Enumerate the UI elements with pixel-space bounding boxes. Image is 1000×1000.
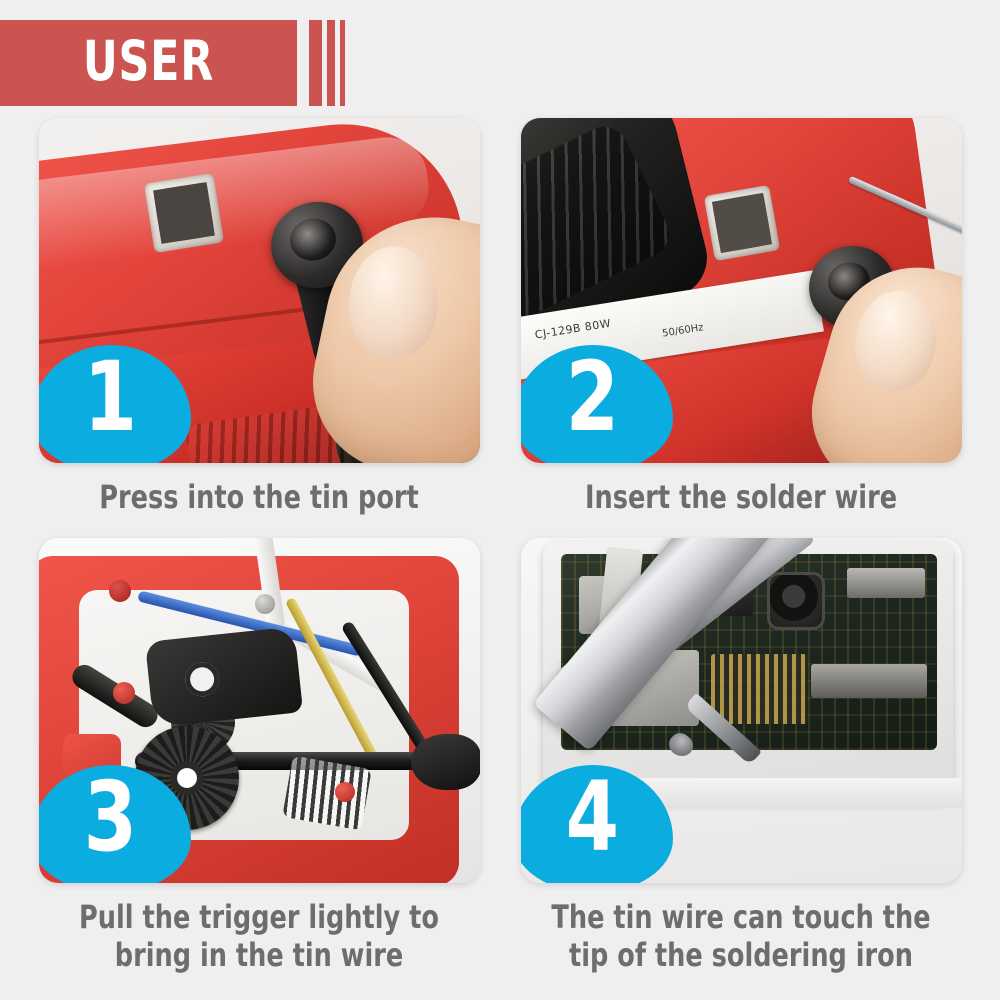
red-post-b [113, 682, 135, 704]
step-4-photo: A1031A 4 [521, 538, 962, 883]
step-caption: The tin wire can touch the tip of the so… [548, 899, 934, 975]
thumbnail-shape [347, 245, 439, 360]
red-post-a [109, 580, 131, 602]
gold-contact-pads [711, 654, 807, 724]
step-2-photo: CJ-129B 80W 50/60Hz 2 [521, 118, 962, 463]
step-card-1: 1 Press into the tin port [18, 118, 500, 517]
rod-end-knob [411, 734, 480, 790]
step-1-photo: 1 [39, 118, 480, 463]
metal-screw [255, 594, 275, 614]
step-number-label: 1 [84, 349, 137, 445]
trigger-lever [144, 626, 302, 727]
product-label-line1: CJ-129B 80W [533, 317, 611, 342]
steps-grid: 1 Press into the tin port CJ-129B 80W 50… [0, 118, 1000, 988]
header-banner: USER [0, 20, 345, 106]
step-number-label: 3 [84, 769, 137, 865]
board-connector-b [811, 664, 927, 698]
header-accent-bar-2 [327, 20, 335, 106]
page-title: USER [33, 20, 265, 106]
step-number-label: 2 [566, 349, 619, 445]
red-post-c [335, 782, 355, 802]
step-caption: Pull the trigger lightly to bring in the… [66, 899, 452, 975]
vent-holes [153, 182, 215, 244]
step-caption: Press into the tin port [66, 479, 452, 517]
camera-module [767, 572, 825, 630]
lever-pivot-hole [183, 661, 220, 698]
vent-holes [711, 193, 771, 253]
step-caption: Insert the solder wire [548, 479, 934, 517]
step-card-4: A1031A 4 The tin wire can touc [500, 538, 982, 975]
step-3-photo: 3 [39, 538, 480, 883]
product-label-line2: 50/60Hz [661, 322, 704, 339]
fingernail-shape [849, 286, 942, 396]
step-card-3: 3 Pull the trigger lightly to bring in t… [18, 538, 500, 975]
header-accent-bar-3 [340, 20, 345, 106]
grip-ridges [521, 119, 677, 324]
step-card-2: CJ-129B 80W 50/60Hz 2 Insert the solder … [500, 118, 982, 517]
vent-grille [703, 185, 779, 261]
header-accent-bar-1 [309, 20, 322, 106]
vent-grille [143, 173, 223, 253]
step-number-label: 4 [566, 769, 619, 865]
board-connector-a [847, 568, 925, 598]
tin-port-inner-hole [286, 215, 339, 264]
